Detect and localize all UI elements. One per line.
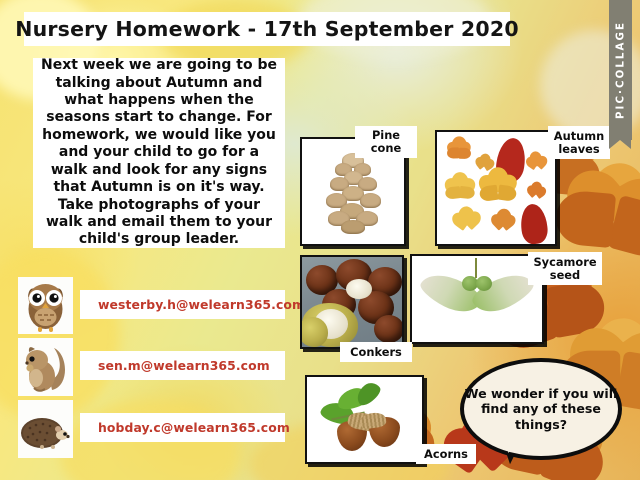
- speech-bubble: We wonder if you will find any of these …: [460, 358, 622, 460]
- acorns-photo[interactable]: [305, 375, 424, 464]
- conkers-caption: Conkers: [340, 342, 412, 362]
- clip-leaf-oak: [489, 212, 517, 239]
- clip-leaf-maple: [451, 210, 483, 240]
- contact-email-1[interactable]: westerby.h@welearn365.com: [80, 297, 305, 312]
- clip-leaf-maple: [477, 172, 519, 212]
- hedgehog-icon: [18, 400, 73, 458]
- piccollage-watermark: PIC·COLLAGE: [609, 0, 632, 140]
- sycamore-seed-photo[interactable]: [410, 254, 544, 344]
- pine-cone-caption: Pine cone: [355, 126, 417, 158]
- clip-leaf-red: [519, 203, 549, 245]
- watermark-label: PIC·COLLAGE: [615, 21, 626, 119]
- squirrel-icon: [18, 338, 73, 396]
- owl-icon: [18, 277, 73, 334]
- homework-note-panel: Next week we are going to be talking abo…: [33, 58, 285, 248]
- clip-leaf-oak: [445, 140, 473, 166]
- speech-bubble-text: We wonder if you will find any of these …: [464, 386, 618, 433]
- conker-flesh: [346, 279, 372, 299]
- contact-email-box-3[interactable]: hobday.c@welearn365.com: [80, 413, 285, 442]
- hedgehog-icon-tile: [18, 400, 73, 458]
- clip-leaf-small: [525, 184, 547, 205]
- page-title-bar: Nursery Homework - 17th September 2020: [24, 12, 510, 46]
- homework-note-text: Next week we are going to be talking abo…: [39, 57, 279, 248]
- squirrel-icon-tile: [18, 338, 73, 396]
- clip-leaf-oak: [525, 154, 549, 177]
- page-title: Nursery Homework - 17th September 2020: [15, 17, 519, 41]
- poster-canvas: Nursery Homework - 17th September 2020 N…: [0, 0, 640, 480]
- conker-husk: [300, 317, 328, 347]
- speech-bubble-tail-inner: [500, 432, 518, 454]
- owl-icon-tile: [18, 277, 73, 334]
- seed-pod: [476, 276, 492, 291]
- contact-email-box-2[interactable]: sen.m@welearn365.com: [80, 351, 285, 380]
- conker: [374, 315, 404, 343]
- contact-email-3[interactable]: hobday.c@welearn365.com: [80, 420, 290, 435]
- contact-email-box-1[interactable]: westerby.h@welearn365.com: [80, 290, 285, 319]
- sycamore-seed-caption: Sycamore seed: [528, 252, 602, 285]
- acorns-caption: Acorns: [416, 444, 476, 464]
- autumn-leaves-photo[interactable]: [435, 130, 557, 246]
- clip-leaf-maple: [443, 176, 477, 208]
- autumn-leaves-caption: Autumn leaves: [548, 126, 610, 159]
- seed-stem: [475, 258, 477, 278]
- contact-email-2[interactable]: sen.m@welearn365.com: [80, 358, 270, 373]
- conkers-photo[interactable]: [300, 255, 404, 349]
- pine-cone-illustration: [322, 151, 384, 237]
